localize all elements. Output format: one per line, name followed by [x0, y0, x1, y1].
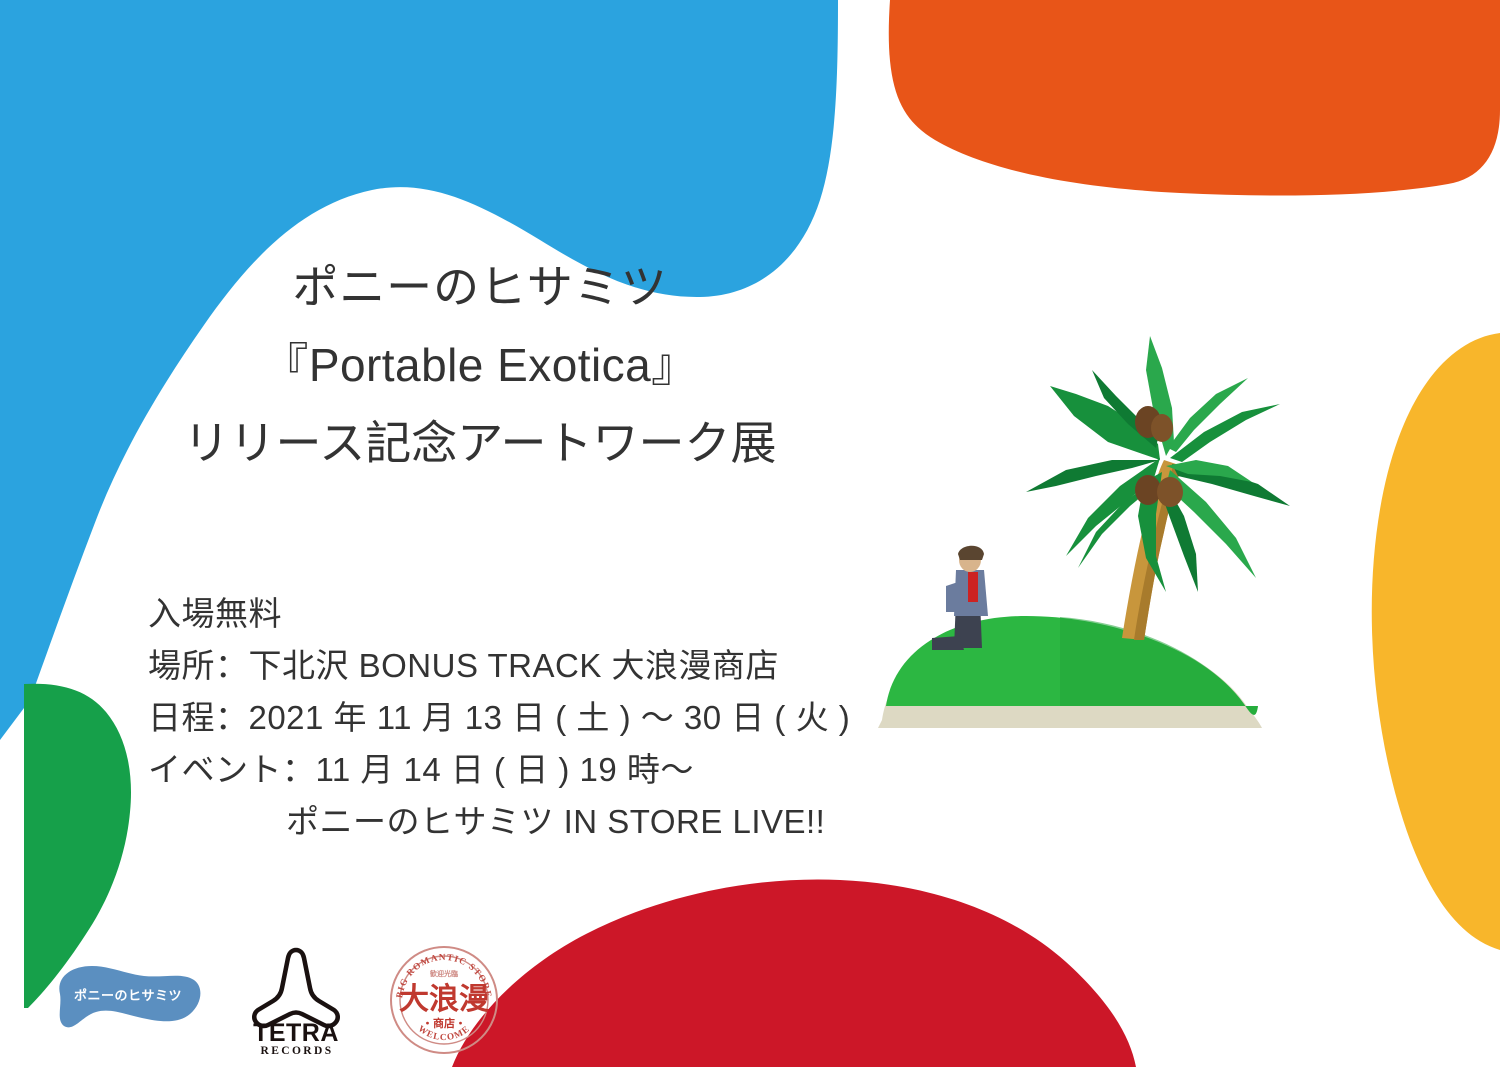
tetra-logo-subtitle: RECORDS	[260, 1045, 333, 1056]
tetra-records-logo: TETRA RECORDS	[248, 944, 344, 1056]
info-event-detail: ポニーのヒサミツ IN STORE LIVE!!	[148, 796, 850, 848]
title-line-album: 『Portable Exotica』	[130, 326, 830, 404]
event-details: 入場無料 場所：下北沢 BONUS TRACK 大浪漫商店 日程：2021 年 …	[148, 588, 850, 848]
info-venue: 場所：下北沢 BONUS TRACK 大浪漫商店	[148, 640, 850, 692]
tetra-logo-word: TETRA	[253, 1019, 339, 1047]
island-grass-shade	[1060, 617, 1258, 715]
info-event: イベント：11 月 14 日 ( 日 ) 19 時〜	[148, 744, 850, 796]
poster-canvas: ポニーのヒサミツ 『Portable Exotica』 リリース記念アートワーク…	[0, 0, 1500, 1067]
pony-no-hisamitsu-logo: ポニーのヒサミツ	[52, 962, 204, 1038]
dairoman-shoten-stamp-logo: BIG ROMANTIC STORE WELCOME 歓迎光臨 大浪漫 ・商店・	[388, 944, 500, 1056]
pony-logo-text: ポニーのヒサミツ	[74, 988, 182, 1003]
palm-tree-island-illustration	[860, 320, 1300, 760]
info-admission: 入場無料	[148, 588, 850, 640]
red-hill-shape	[452, 879, 1136, 1067]
stamp-top-small-text: 歓迎光臨	[429, 969, 458, 978]
info-dates: 日程：2021 年 11 月 13 日 ( 土 ) 〜 30 日 ( 火 )	[148, 692, 850, 744]
tetra-tetrahedron-icon	[254, 950, 337, 1026]
title-line-subtitle: リリース記念アートワーク展	[130, 404, 830, 482]
stamp-sub-text: ・商店・	[422, 1016, 466, 1030]
yellow-petal-shape	[1372, 333, 1500, 950]
orange-crescent-shape	[889, 0, 1500, 196]
stamp-main-text: 大浪漫	[399, 982, 489, 1017]
title-line-artist: ポニーのヒサミツ	[130, 248, 830, 326]
logo-row: ポニーのヒサミツ TETRA RECORDS BIG ROMANTIC STOR…	[52, 940, 500, 1060]
poster-title: ポニーのヒサミツ 『Portable Exotica』 リリース記念アートワーク…	[130, 248, 830, 482]
seated-figure	[932, 546, 988, 650]
